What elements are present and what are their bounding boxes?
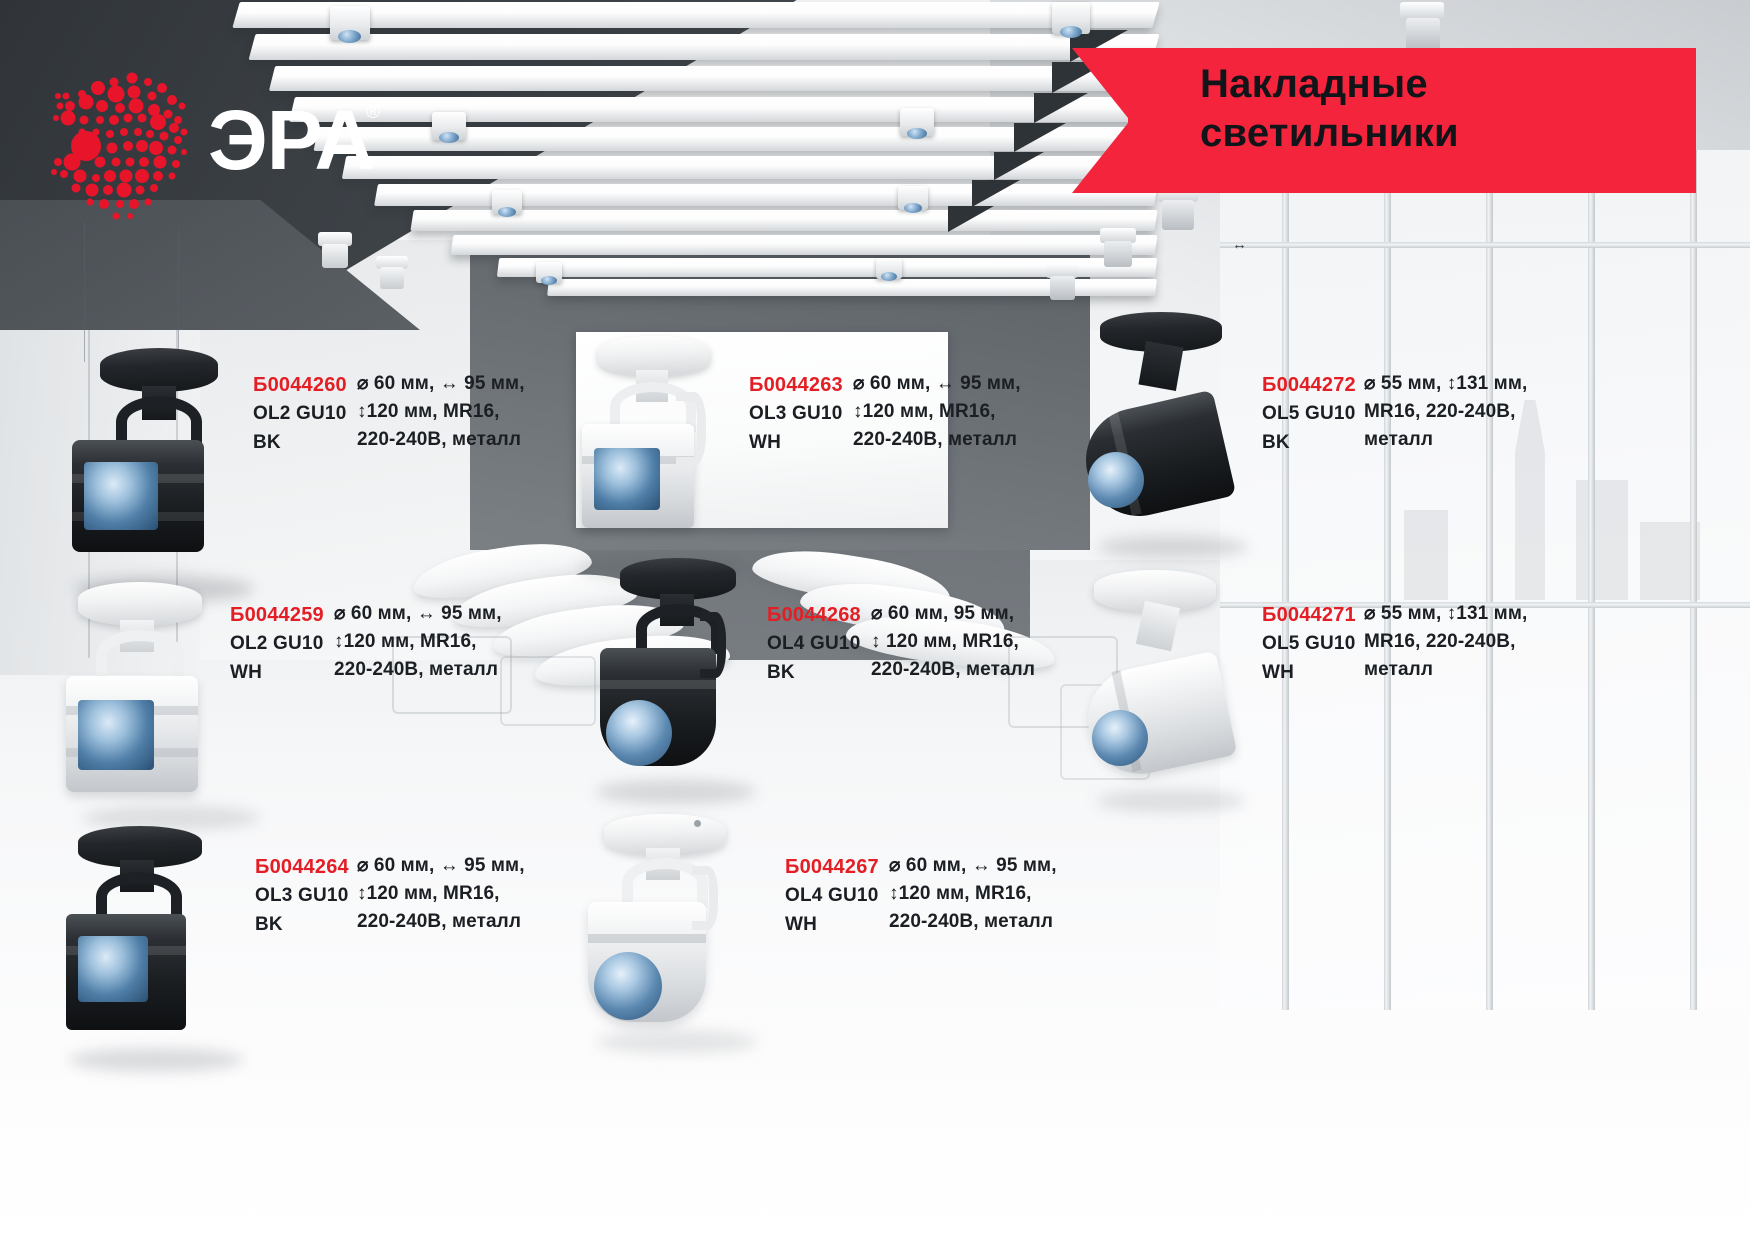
base-screw-icon	[694, 820, 701, 827]
spec-line: MR16, 220-240В,	[1364, 628, 1527, 656]
spec-line: ↕120 мм, MR16,	[334, 628, 502, 656]
product-model: OL3 GU10	[749, 400, 843, 429]
era-dot-burst-logo-icon	[36, 62, 206, 222]
spec-line: 220-240В, металл	[871, 656, 1035, 684]
ceiling-slat	[249, 34, 1160, 60]
lens-reflector	[606, 700, 672, 766]
spec-line: ⌀ 55 мм, ↕131 мм,	[1364, 600, 1527, 628]
yoke-bracket	[96, 630, 184, 682]
product-label-p7: Б0044264 OL3 GU10 BK	[255, 852, 349, 939]
spec-line: ↕120 мм, MR16,	[853, 398, 1021, 426]
window-transom	[1220, 242, 1750, 248]
product-code: Б0044260	[253, 370, 347, 400]
product-spec-p7: ⌀ 60 мм, ↔ 95 мм, ↕120 мм, MR16, 220-240…	[357, 852, 525, 936]
background-track-spot-body	[1050, 276, 1075, 300]
window-measure-arrow-icon: ↔	[1232, 236, 1246, 253]
product-label-p2: Б0044263 OL3 GU10 WH	[749, 370, 843, 457]
product-code: Б0044267	[785, 852, 879, 882]
background-spot-lens	[498, 207, 516, 217]
window-mullion	[1384, 150, 1391, 1010]
spec-line: 220-240В, металл	[889, 908, 1057, 936]
product-spec-p6: ⌀ 55 мм, ↕131 мм, MR16, 220-240В, металл	[1364, 600, 1527, 684]
product-color: WH	[1262, 659, 1356, 688]
product-color: BK	[767, 659, 861, 688]
lens-reflector	[78, 700, 154, 770]
suspension-wire	[84, 222, 85, 362]
background-track-spot-body	[322, 244, 348, 268]
spec-line: металл	[1364, 426, 1527, 454]
spec-line: 220-240В, металл	[334, 656, 502, 684]
product-code: Б0044271	[1262, 600, 1356, 630]
spec-line: ⌀ 60 мм, ↔ 95 мм,	[357, 852, 525, 880]
product-label-p5: Б0044268 OL4 GU10 BK	[767, 600, 861, 687]
barrel-ring	[600, 680, 716, 689]
product-spec-p3: ⌀ 55 мм, ↕131 мм, MR16, 220-240В, металл	[1364, 370, 1527, 454]
background-spot-lens	[1060, 26, 1082, 38]
spec-line: ⌀ 60 мм, ↔ 95 мм,	[334, 600, 502, 628]
product-label-p1: Б0044260 OL2 GU10 BK	[253, 370, 347, 457]
product-color: BK	[253, 429, 347, 458]
registered-trademark-icon: ®	[366, 102, 380, 124]
product-color: BK	[255, 911, 349, 940]
background-spot-lens	[881, 272, 897, 281]
product-spec-p8: ⌀ 60 мм, ↔ 95 мм, ↕120 мм, MR16, 220-240…	[889, 852, 1057, 936]
product-model: OL2 GU10	[230, 630, 324, 659]
product-shadow	[82, 806, 260, 830]
glass-curtain-wall	[1220, 150, 1750, 1010]
product-model: OL4 GU10	[767, 630, 861, 659]
spec-line: ↕120 мм, MR16,	[357, 880, 525, 908]
product-color: WH	[785, 911, 879, 940]
spec-line: ⌀ 60 мм, ↔ 95 мм,	[889, 852, 1057, 880]
section-title-line2: светильники	[1200, 109, 1700, 158]
product-shadow	[1096, 790, 1246, 812]
spec-line: 220-240В, металл	[357, 908, 525, 936]
product-shadow	[596, 780, 756, 804]
skyline-building	[1576, 480, 1628, 600]
background-spot-lens	[439, 132, 459, 143]
brand-wordmark: ЭРА	[208, 98, 374, 182]
furniture-silhouette	[500, 656, 596, 726]
product-shadow	[596, 1030, 758, 1054]
ceiling-slat	[289, 97, 1159, 122]
cable-loop	[700, 612, 726, 678]
spec-line: MR16, 220-240В,	[1364, 398, 1527, 426]
product-shadow	[68, 1048, 244, 1072]
lens-reflector	[1088, 452, 1144, 508]
window-mullion	[1690, 150, 1697, 1010]
ceiling-slat	[342, 156, 1158, 179]
spec-line: 220-240В, металл	[853, 426, 1021, 454]
background-spot-lens	[541, 276, 557, 285]
ceiling-slat	[451, 235, 1158, 255]
background-track-spot-body	[380, 267, 404, 289]
spec-line: 220-240В, металл	[357, 426, 525, 454]
spec-line: ⌀ 60 мм, ↔ 95 мм,	[357, 370, 525, 398]
product-code: Б0044272	[1262, 370, 1356, 400]
ceiling-slat	[269, 66, 1159, 91]
product-spec-p5: ⌀ 60 мм, 95 мм, ↕ 120 мм, MR16, 220-240В…	[871, 600, 1035, 684]
spec-line: ↕ 120 мм, MR16,	[871, 628, 1035, 656]
background-track-spot-body	[1162, 200, 1194, 230]
product-code: Б0044259	[230, 600, 324, 630]
cable-loop	[676, 392, 706, 466]
background-spot-lens	[338, 30, 361, 43]
suspension-wire	[178, 228, 179, 368]
spec-line: ↕120 мм, MR16,	[889, 880, 1057, 908]
background-spot-lens	[907, 128, 927, 139]
knuckle-stem	[1138, 341, 1183, 391]
brand-logo: ЭРА ®	[36, 62, 366, 222]
product-model: OL4 GU10	[785, 882, 879, 911]
cable-loop	[692, 866, 718, 930]
product-label-p8: Б0044267 OL4 GU10 WH	[785, 852, 879, 939]
product-code: Б0044264	[255, 852, 349, 882]
product-spec-p4: ⌀ 60 мм, ↔ 95 мм, ↕120 мм, MR16, 220-240…	[334, 600, 502, 684]
product-spec-p2: ⌀ 60 мм, ↔ 95 мм, ↕120 мм, MR16, 220-240…	[853, 370, 1021, 454]
barrel-ring	[588, 934, 706, 943]
lens-reflector	[84, 462, 158, 530]
product-color: WH	[749, 429, 843, 458]
product-model: OL5 GU10	[1262, 400, 1356, 429]
background-track-spot-body	[1406, 18, 1440, 50]
spec-line: ⌀ 60 мм, ↔ 95 мм,	[853, 370, 1021, 398]
window-mullion	[1486, 150, 1493, 1010]
section-title: Накладные светильники	[1200, 60, 1700, 158]
window-mullion	[1282, 150, 1289, 1010]
window-mullion	[1588, 150, 1595, 1010]
lens-reflector	[594, 448, 660, 510]
spec-line: металл	[1364, 656, 1527, 684]
product-color: WH	[230, 659, 324, 688]
lens-reflector	[78, 936, 148, 1002]
lens-reflector	[594, 952, 662, 1020]
lens-reflector	[1092, 710, 1148, 766]
product-label-p3: Б0044272 OL5 GU10 BK	[1262, 370, 1356, 457]
product-label-p6: Б0044271 OL5 GU10 WH	[1262, 600, 1356, 687]
product-model: OL3 GU10	[255, 882, 349, 911]
ceiling-slat	[232, 2, 1159, 28]
product-code: Б0044268	[767, 600, 861, 630]
product-model: OL2 GU10	[253, 400, 347, 429]
section-title-line1: Накладные	[1200, 60, 1700, 109]
product-color: BK	[1262, 429, 1356, 458]
background-spot-lens	[904, 203, 922, 213]
spec-line: ⌀ 55 мм, ↕131 мм,	[1364, 370, 1527, 398]
spec-line: ↕120 мм, MR16,	[357, 398, 525, 426]
product-code: Б0044263	[749, 370, 843, 400]
product-spec-p1: ⌀ 60 мм, ↔ 95 мм, ↕120 мм, MR16, 220-240…	[357, 370, 525, 454]
skyline-building	[1404, 510, 1448, 600]
ceiling-slat	[410, 210, 1157, 231]
product-label-p4: Б0044259 OL2 GU10 WH	[230, 600, 324, 687]
product-shadow	[1098, 536, 1248, 558]
catalog-page: ↔	[0, 0, 1750, 1238]
background-track-spot-body	[1104, 241, 1132, 267]
spec-line: ⌀ 60 мм, 95 мм,	[871, 600, 1035, 628]
product-model: OL5 GU10	[1262, 630, 1356, 659]
